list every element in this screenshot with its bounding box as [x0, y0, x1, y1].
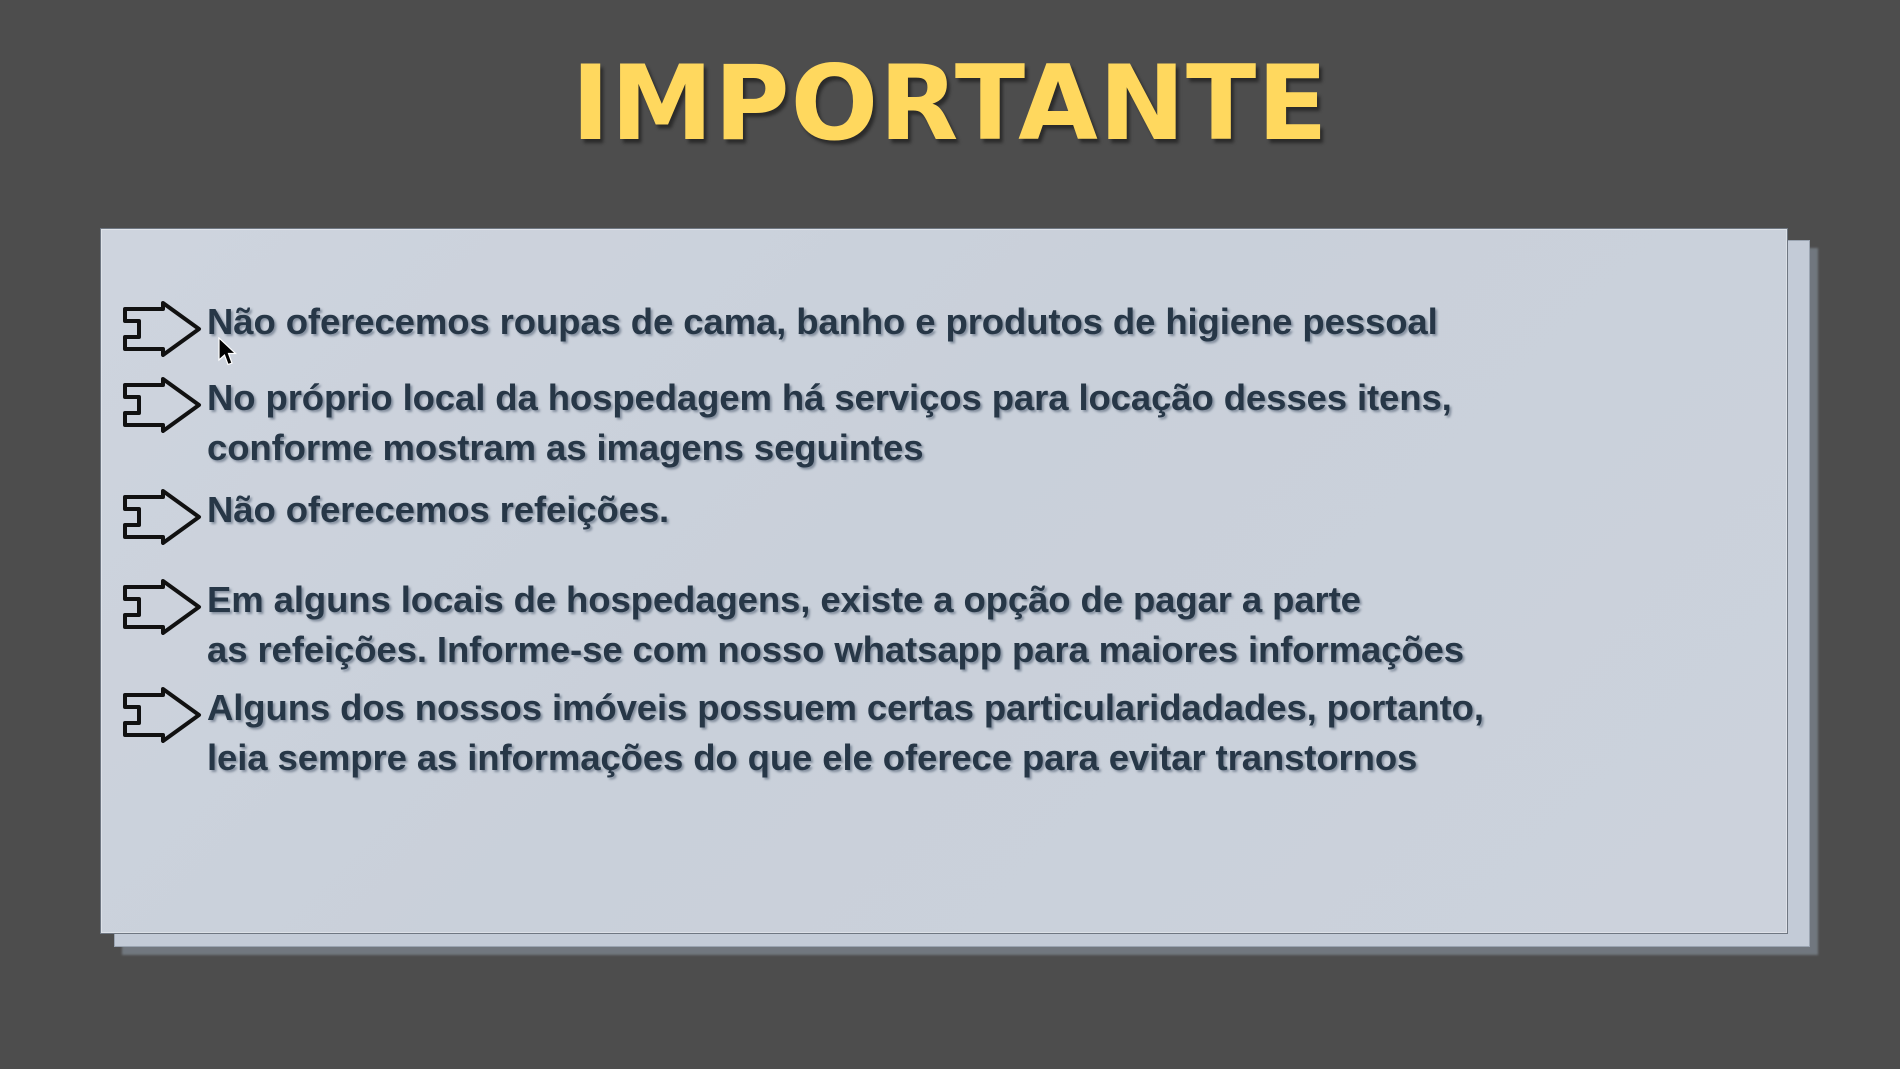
slide-canvas: IMPORTANTE Não oferecemos roupas de cama…	[0, 0, 1900, 1069]
list-item: Não oferecemos refeições.	[119, 485, 1779, 545]
right-arrow-outline-icon	[119, 377, 205, 433]
content-panel-wrapper: Não oferecemos roupas de cama, banho e p…	[100, 228, 1818, 955]
list-item: No próprio local da hospedagem há serviç…	[119, 373, 1779, 473]
list-item: Em alguns locais de hospedagens, existe …	[119, 575, 1779, 675]
list-item: Alguns dos nossos imóveis possuem certas…	[119, 683, 1779, 783]
right-arrow-outline-icon	[119, 687, 205, 743]
right-arrow-outline-icon	[119, 579, 205, 635]
content-panel: Não oferecemos roupas de cama, banho e p…	[100, 228, 1788, 934]
list-item-label: Não oferecemos refeições.	[207, 485, 1779, 535]
right-arrow-outline-icon	[119, 301, 205, 357]
list-item-label: Em alguns locais de hospedagens, existe …	[207, 575, 1779, 675]
list-item-label: Alguns dos nossos imóveis possuem certas…	[207, 683, 1779, 783]
list-item: Não oferecemos roupas de cama, banho e p…	[119, 297, 1779, 357]
bullet-list: Não oferecemos roupas de cama, banho e p…	[119, 297, 1779, 783]
list-item-label: No próprio local da hospedagem há serviç…	[207, 373, 1779, 473]
right-arrow-outline-icon	[119, 489, 205, 545]
list-item-label: Não oferecemos roupas de cama, banho e p…	[207, 297, 1779, 347]
page-title: IMPORTANTE	[0, 50, 1900, 158]
